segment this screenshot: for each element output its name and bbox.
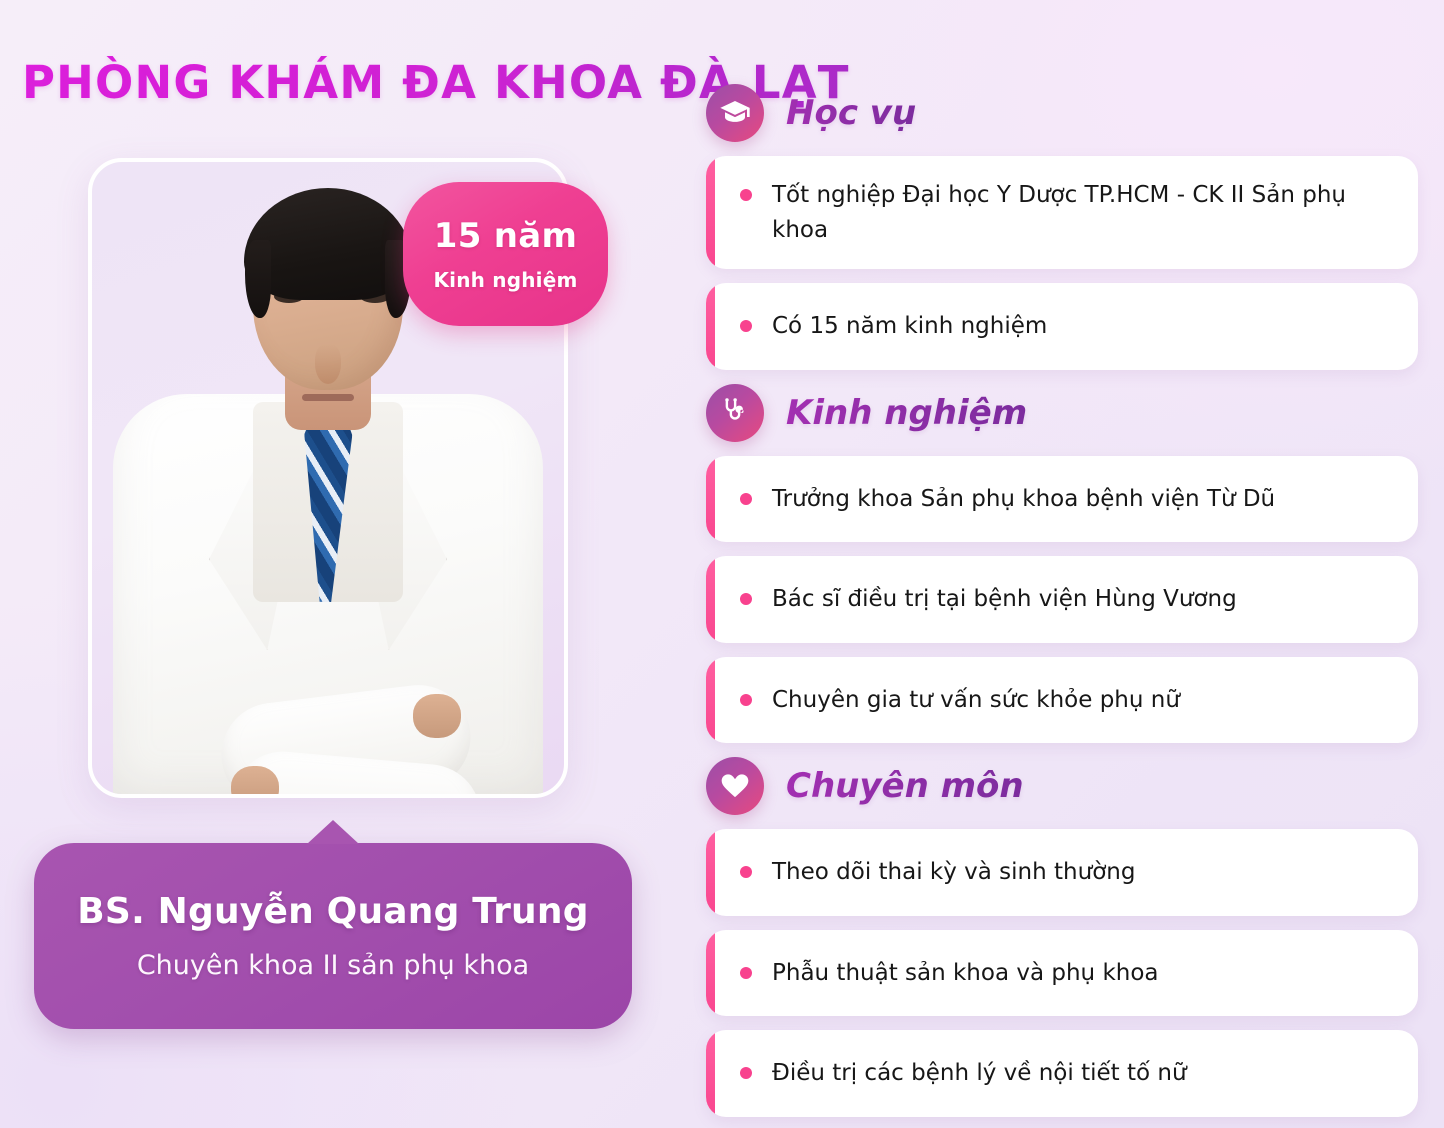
doctor-hair xyxy=(244,188,412,300)
list-kinh-nghiem: Trưởng khoa Sản phụ khoa bệnh viện Từ Dũ… xyxy=(706,452,1418,744)
section-title-hoc-vu: Học vụ xyxy=(786,93,916,133)
experience-years-badge: 15 năm Kinh nghiệm xyxy=(403,182,608,326)
credentials-column: Học vụ Tốt nghiệp Đại học Y Dược TP.HCM … xyxy=(706,74,1418,1121)
section-hoc-vu: Học vụ Tốt nghiệp Đại học Y Dược TP.HCM … xyxy=(706,74,1418,370)
bullet-dot-icon xyxy=(740,1067,752,1079)
list-item-text: Có 15 năm kinh nghiệm xyxy=(772,309,1047,344)
doctor-hand-right xyxy=(231,766,279,798)
doctor-hand-left xyxy=(413,694,461,738)
section-header-kinh-nghiem: Kinh nghiệm xyxy=(706,374,1418,452)
section-title-kinh-nghiem: Kinh nghiệm xyxy=(786,393,1027,433)
bullet-dot-icon xyxy=(740,320,752,332)
doctor-name-card: BS. Nguyễn Quang Trung Chuyên khoa II sả… xyxy=(34,843,632,1029)
list-hoc-vu: Tốt nghiệp Đại học Y Dược TP.HCM - CK II… xyxy=(706,152,1418,370)
list-item: Chuyên gia tư vấn sức khỏe phụ nữ xyxy=(706,657,1418,744)
doctor-name: BS. Nguyễn Quang Trung xyxy=(77,891,588,932)
list-item: Có 15 năm kinh nghiệm xyxy=(706,283,1418,370)
list-item: Điều trị các bệnh lý về nội tiết tố nữ xyxy=(706,1030,1418,1117)
list-item: Tốt nghiệp Đại học Y Dược TP.HCM - CK II… xyxy=(706,156,1418,269)
list-item-text: Bác sĩ điều trị tại bệnh viện Hùng Vương xyxy=(772,582,1237,617)
bullet-dot-icon xyxy=(740,593,752,605)
section-header-hoc-vu: Học vụ xyxy=(706,74,1418,152)
doctor-profile-infographic: PHÒNG KHÁM ĐA KHOA ĐÀ LẠT xyxy=(0,0,1444,1128)
section-kinh-nghiem: Kinh nghiệm Trưởng khoa Sản phụ khoa bện… xyxy=(706,374,1418,744)
bullet-dot-icon xyxy=(740,189,752,201)
doctor-specialty: Chuyên khoa II sản phụ khoa xyxy=(137,950,529,981)
list-item-text: Theo dõi thai kỳ và sinh thường xyxy=(772,855,1135,890)
list-item: Trưởng khoa Sản phụ khoa bệnh viện Từ Dũ xyxy=(706,456,1418,543)
bullet-dot-icon xyxy=(740,967,752,979)
heart-icon xyxy=(706,757,764,815)
list-item: Phẫu thuật sản khoa và phụ khoa xyxy=(706,930,1418,1017)
stethoscope-icon xyxy=(706,384,764,442)
badge-years-value: 15 năm xyxy=(434,216,578,256)
list-item: Theo dõi thai kỳ và sinh thường xyxy=(706,829,1418,916)
bullet-dot-icon xyxy=(740,866,752,878)
list-item: Bác sĩ điều trị tại bệnh viện Hùng Vương xyxy=(706,556,1418,643)
bullet-dot-icon xyxy=(740,493,752,505)
list-item-text: Trưởng khoa Sản phụ khoa bệnh viện Từ Dũ xyxy=(772,482,1275,517)
section-chuyen-mon: Chuyên môn Theo dõi thai kỳ và sinh thườ… xyxy=(706,747,1418,1117)
list-chuyen-mon: Theo dõi thai kỳ và sinh thường Phẫu thu… xyxy=(706,825,1418,1117)
list-item-text: Chuyên gia tư vấn sức khỏe phụ nữ xyxy=(772,683,1180,718)
section-header-chuyen-mon: Chuyên môn xyxy=(706,747,1418,825)
graduation-cap-icon xyxy=(706,84,764,142)
list-item-text: Phẫu thuật sản khoa và phụ khoa xyxy=(772,956,1159,991)
list-item-text: Điều trị các bệnh lý về nội tiết tố nữ xyxy=(772,1056,1187,1091)
section-title-chuyen-mon: Chuyên môn xyxy=(786,766,1024,806)
doctor-mouth xyxy=(302,394,354,401)
badge-years-label: Kinh nghiệm xyxy=(433,268,577,292)
doctor-nose xyxy=(315,344,341,384)
bullet-dot-icon xyxy=(740,694,752,706)
list-item-text: Tốt nghiệp Đại học Y Dược TP.HCM - CK II… xyxy=(772,178,1390,247)
